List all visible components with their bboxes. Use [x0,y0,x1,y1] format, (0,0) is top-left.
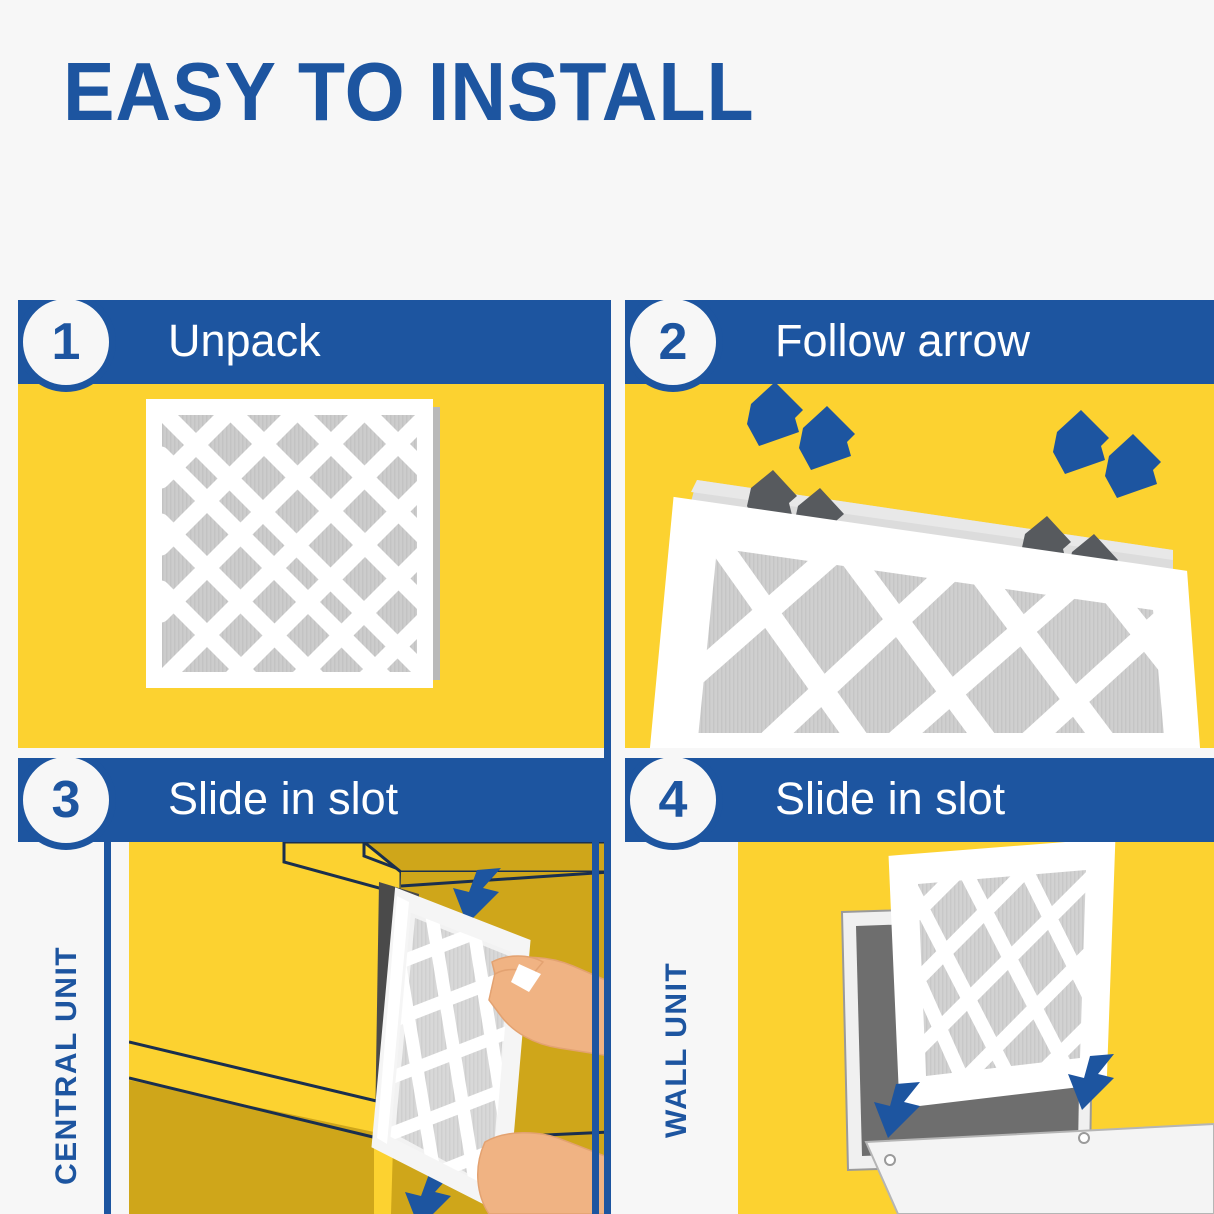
step-1-number-badge: 1 [18,300,116,392]
divider-panel3-right [592,842,599,1214]
airflow-arrow-blue-left [747,384,855,470]
airflow-arrow-blue-right [1053,410,1161,498]
infographic-canvas: EASY TO INSTALL [0,0,1214,1214]
step-4-illustration-area [738,842,1214,1214]
step-3-header: 3 Slide in slot [18,758,610,842]
step-2-illustration-area [625,384,1214,748]
step-2-number-badge: 2 [625,300,723,392]
divider-vertical-center [604,300,611,1214]
door-screw-left [885,1155,895,1165]
step-3-number-badge: 3 [18,758,116,850]
step-2-header: 2 Follow arrow [625,300,1214,384]
step-3-illustration-area [129,842,610,1214]
step-panel-4: 4 Slide in slot [625,758,1214,1214]
tilted-filter-airflow-illustration [625,384,1214,748]
central-unit-filter-insertion-illustration [129,842,610,1214]
step-1-label: Unpack [168,315,321,367]
divider-panel3-left [104,842,111,1214]
step-panel-1: 1 Unpack [18,300,610,748]
side-label-central-unit: CENTRAL UNIT [50,946,84,1185]
wall-unit-filter-insertion-illustration [738,842,1214,1214]
door-screw-right [1079,1133,1089,1143]
step-1-header: 1 Unpack [18,300,610,384]
step-2-label: Follow arrow [775,315,1030,367]
step-4-header: 4 Slide in slot [625,758,1214,842]
step-3-label: Slide in slot [168,773,398,825]
step-4-label: Slide in slot [775,773,1005,825]
page-title: EASY TO INSTALL [63,48,755,135]
air-filter-front-illustration [18,384,610,748]
step-1-illustration-area [18,384,610,748]
side-label-wall-unit: WALL UNIT [660,962,694,1138]
step-4-number-badge: 4 [625,758,723,850]
step-panel-2: 2 Follow arrow [625,300,1214,748]
